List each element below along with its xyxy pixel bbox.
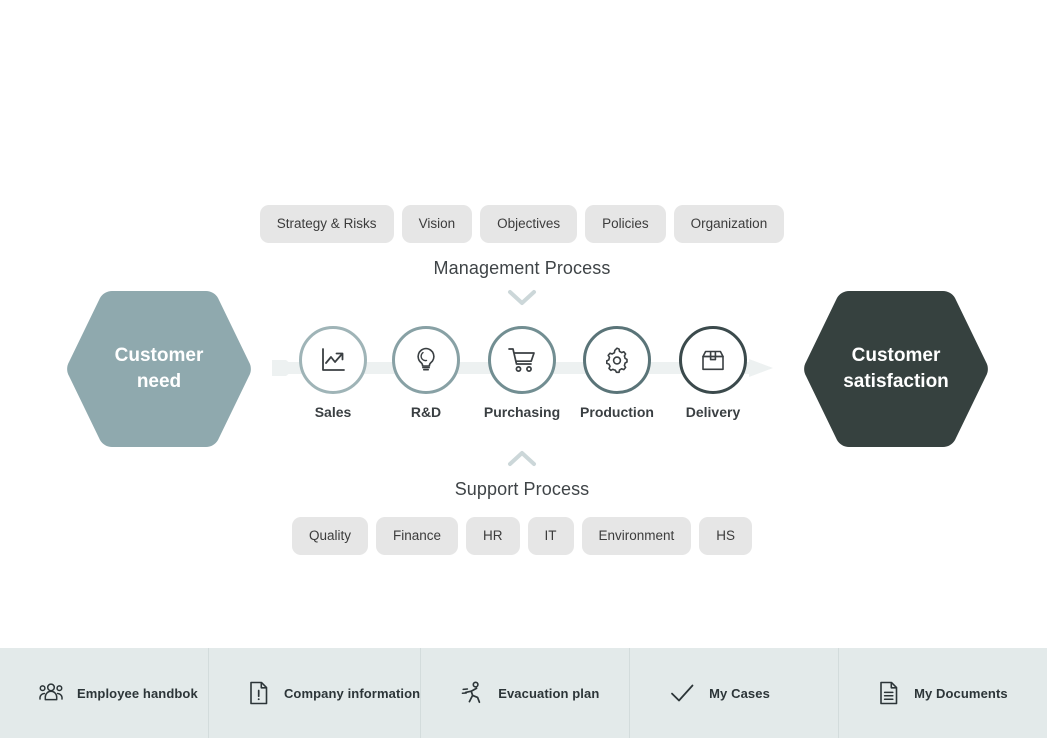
toolbar-label-my-cases: My Cases	[709, 686, 770, 701]
toolbar-label-company-information: Company information	[284, 686, 420, 701]
toolbar-item-evacuation-plan[interactable]: Evacuation plan	[421, 648, 630, 738]
pill-environment[interactable]: Environment	[582, 517, 692, 555]
document-alert-icon	[247, 680, 271, 706]
core-process-chain: Sales R&D	[272, 326, 777, 441]
toolbar-item-my-cases[interactable]: My Cases	[630, 648, 839, 738]
process-node-purchasing-circle[interactable]	[488, 326, 556, 394]
hexagon-customer-satisfaction[interactable]: Customer satisfaction	[801, 285, 991, 453]
hexagon-satisfaction-line2: satisfaction	[843, 371, 949, 392]
package-box-icon	[698, 345, 728, 375]
toolbar-label-my-documents: My Documents	[914, 686, 1008, 701]
hexagon-customer-satisfaction-label: Customer satisfaction	[843, 343, 949, 395]
lightbulb-icon	[411, 345, 441, 375]
line-chart-icon	[318, 345, 348, 375]
process-node-delivery-circle[interactable]	[679, 326, 747, 394]
pill-hs[interactable]: HS	[699, 517, 752, 555]
pill-organization[interactable]: Organization	[674, 205, 785, 243]
pill-quality[interactable]: Quality	[292, 517, 368, 555]
toolbar-label-evacuation-plan: Evacuation plan	[498, 686, 599, 701]
process-node-sales-label: Sales	[291, 404, 375, 420]
process-node-rd-circle[interactable]	[392, 326, 460, 394]
process-node-purchasing-label: Purchasing	[480, 404, 564, 420]
process-node-rd[interactable]: R&D	[384, 326, 468, 420]
running-person-icon	[459, 680, 485, 706]
toolbar-item-my-documents[interactable]: My Documents	[839, 648, 1047, 738]
document-lines-icon	[877, 680, 901, 706]
process-node-purchasing[interactable]: Purchasing	[480, 326, 564, 420]
users-group-icon	[38, 680, 64, 706]
management-process-caption: Management Process	[0, 258, 1044, 279]
bottom-toolbar: Employee handbok Company information Eva	[0, 648, 1047, 738]
hexagon-need-line1: Customer	[115, 345, 204, 366]
hexagon-customer-need-label: Customer need	[115, 343, 204, 395]
pill-policies[interactable]: Policies	[585, 205, 666, 243]
process-node-rd-label: R&D	[384, 404, 468, 420]
pill-vision[interactable]: Vision	[402, 205, 473, 243]
pill-strategy-risks[interactable]: Strategy & Risks	[260, 205, 394, 243]
process-node-delivery[interactable]: Delivery	[671, 326, 755, 420]
support-process-pill-row: Quality Finance HR IT Environment HS	[0, 517, 1044, 555]
pill-hr[interactable]: HR	[466, 517, 520, 555]
toolbar-item-employee-handbook[interactable]: Employee handbok	[0, 648, 209, 738]
process-node-production[interactable]: Production	[575, 326, 659, 420]
pill-finance[interactable]: Finance	[376, 517, 458, 555]
process-node-delivery-label: Delivery	[671, 404, 755, 420]
shopping-cart-icon	[506, 344, 538, 376]
pill-objectives[interactable]: Objectives	[480, 205, 577, 243]
hexagon-customer-need[interactable]: Customer need	[64, 285, 254, 453]
toolbar-item-company-information[interactable]: Company information	[209, 648, 421, 738]
process-node-sales[interactable]: Sales	[291, 326, 375, 420]
management-process-pill-row: Strategy & Risks Vision Objectives Polic…	[0, 205, 1044, 243]
toolbar-label-employee-handbook: Employee handbok	[77, 686, 198, 701]
pill-it[interactable]: IT	[528, 517, 574, 555]
hexagon-need-line2: need	[137, 371, 181, 392]
support-process-caption: Support Process	[0, 479, 1044, 500]
process-node-production-circle[interactable]	[583, 326, 651, 394]
hexagon-satisfaction-line1: Customer	[852, 345, 941, 366]
process-node-production-label: Production	[575, 404, 659, 420]
gear-icon	[602, 345, 632, 375]
process-map: Strategy & Risks Vision Objectives Polic…	[0, 0, 1047, 650]
process-node-sales-circle[interactable]	[299, 326, 367, 394]
chevron-up-icon	[0, 449, 1044, 469]
checkmark-icon	[668, 680, 696, 706]
